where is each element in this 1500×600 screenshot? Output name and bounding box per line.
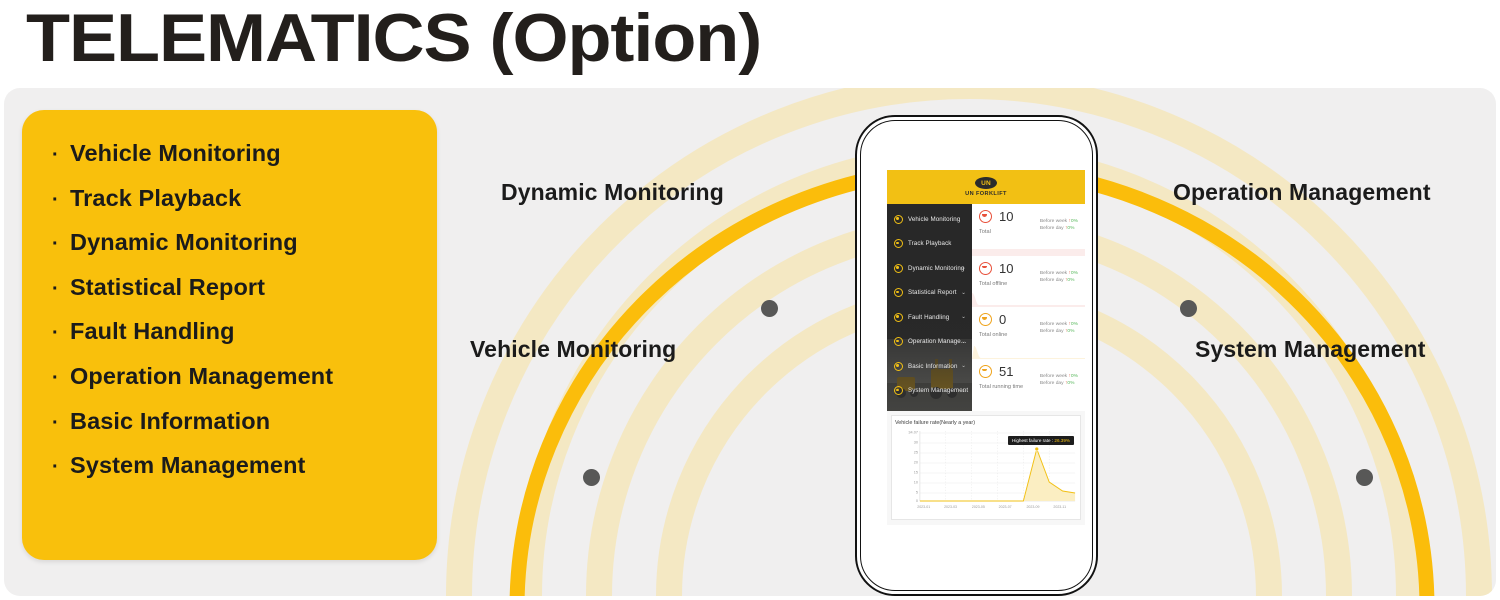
delta-before-day: Before day ↑0% xyxy=(1040,328,1078,335)
phone-bezel: UN UN FORKLIFT xyxy=(860,120,1093,591)
bullet-icon: · xyxy=(52,446,70,489)
feature-item: ·System Management xyxy=(22,444,437,489)
svg-text:2023-09: 2023-09 xyxy=(1026,505,1039,509)
arc-label-vehicle-monitoring: Vehicle Monitoring xyxy=(470,336,676,363)
delta-pct: 0% xyxy=(1067,226,1074,231)
delta-before-week: Before week ↑0% xyxy=(1040,373,1078,380)
svg-text:34.07: 34.07 xyxy=(908,429,918,434)
telematics-slide: TELEMATICS (Option) ·Vehicle Monitoring … xyxy=(0,0,1500,600)
brand-logo-text: UN FORKLIFT xyxy=(965,191,1007,197)
delta-name: Before day xyxy=(1040,329,1064,334)
delta-name: Before day xyxy=(1040,226,1064,231)
bullet-icon: · xyxy=(52,134,70,177)
delta-name: Before week xyxy=(1040,374,1067,379)
bullet-icon: · xyxy=(52,223,70,266)
sidebar-item-track-playback[interactable]: Track Playback xyxy=(887,232,972,257)
arc-node-vehicle-monitoring xyxy=(583,469,600,486)
sidebar-item-label: Vehicle Monitoring xyxy=(908,216,960,223)
svg-text:25: 25 xyxy=(914,449,919,454)
delta-before-week: Before week ↑0% xyxy=(1040,270,1078,277)
bullet-icon: · xyxy=(52,402,70,445)
menu-dot-icon xyxy=(894,386,903,395)
feature-item: ·Operation Management xyxy=(22,355,437,400)
svg-text:2023-07: 2023-07 xyxy=(999,505,1012,509)
delta-before-week: Before week ↑0% xyxy=(1040,321,1078,328)
menu-dot-icon xyxy=(894,264,903,273)
sidebar-item-statistical-report[interactable]: Statistical Report⌄ xyxy=(887,281,972,306)
delta-pct: 0% xyxy=(1067,381,1074,386)
delta-before-day: Before day ↑0% xyxy=(1040,277,1078,284)
feature-item: ·Track Playback xyxy=(22,177,437,222)
delta-name: Before week xyxy=(1040,322,1067,327)
sidebar-menu: Vehicle Monitoring Track Playback Dynami… xyxy=(887,204,972,403)
sidebar-item-label: Basic Information xyxy=(908,363,958,370)
feature-label: Operation Management xyxy=(70,355,333,398)
delta-name: Before week xyxy=(1040,271,1067,276)
svg-text:2023-11: 2023-11 xyxy=(1053,505,1066,509)
arc-label-dynamic-monitoring: Dynamic Monitoring xyxy=(501,179,724,206)
feature-label: Track Playback xyxy=(70,177,241,220)
sidebar-item-label: Fault Handling xyxy=(908,314,949,321)
bullet-icon: · xyxy=(52,357,70,400)
delta-pct: 0% xyxy=(1071,219,1078,224)
sidebar-item-label: Operation Manage... xyxy=(908,338,966,345)
delta-name: Before day xyxy=(1040,278,1064,283)
app-header: UN UN FORKLIFT xyxy=(887,170,1085,204)
stat-deltas: Before week ↑0% Before day ↑0% xyxy=(1040,321,1078,336)
sidebar-item-dynamic-monitoring[interactable]: Dynamic Monitoring⌄ xyxy=(887,256,972,281)
sidebar-item-basic-information[interactable]: Basic Information⌄ xyxy=(887,354,972,379)
stat-value: 0 xyxy=(999,313,1006,326)
menu-dot-icon xyxy=(894,337,903,346)
sidebar-item-label: Dynamic Monitoring xyxy=(908,265,964,272)
svg-text:2023-05: 2023-05 xyxy=(972,505,985,509)
feature-item: ·Basic Information xyxy=(22,400,437,445)
feature-list: ·Vehicle Monitoring ·Track Playback ·Dyn… xyxy=(22,110,437,489)
chevron-down-icon: ⌄ xyxy=(961,265,966,271)
stat-deltas: Before week ↑0% Before day ↑0% xyxy=(1040,373,1078,388)
svg-text:20: 20 xyxy=(914,459,919,464)
feature-list-card: ·Vehicle Monitoring ·Track Playback ·Dyn… xyxy=(22,110,437,560)
feature-label: Statistical Report xyxy=(70,266,265,309)
delta-pct: 0% xyxy=(1071,374,1078,379)
menu-dot-icon xyxy=(894,288,903,297)
sidebar-item-fault-handling[interactable]: Fault Handling⌄ xyxy=(887,305,972,330)
chevron-down-icon: ⌄ xyxy=(961,314,966,320)
stat-card-column: 10 Total Before week ↑0% Before day ↑0% xyxy=(972,204,1085,411)
bullet-icon: · xyxy=(52,312,70,355)
chevron-down-icon: ⌄ xyxy=(961,339,966,345)
stat-card-total-running-time: 51 Total running time Before week ↑0% Be… xyxy=(972,359,1085,411)
sparkline xyxy=(972,343,1085,359)
delta-pct: 0% xyxy=(1067,329,1074,334)
sidebar-item-system-management[interactable]: System Management⌄ xyxy=(887,379,972,404)
app-sidebar: Vehicle Monitoring Track Playback Dynami… xyxy=(887,204,972,411)
delta-before-day: Before day ↑0% xyxy=(1040,225,1078,232)
stat-value: 10 xyxy=(999,210,1013,223)
feature-label: Dynamic Monitoring xyxy=(70,221,298,264)
svg-text:5: 5 xyxy=(916,489,919,494)
delta-name: Before week xyxy=(1040,219,1067,224)
arc-node-operation-management xyxy=(1180,300,1197,317)
svg-text:10: 10 xyxy=(914,479,919,484)
stat-deltas: Before week ↑0% Before day ↑0% xyxy=(1040,218,1078,233)
feature-item: ·Statistical Report xyxy=(22,266,437,311)
menu-dot-icon xyxy=(894,313,903,322)
svg-text:0: 0 xyxy=(916,498,919,503)
stat-value: 10 xyxy=(999,262,1013,275)
sparkline xyxy=(972,291,1085,307)
arc-node-dynamic-monitoring xyxy=(761,300,778,317)
alert-circle-icon xyxy=(979,210,992,223)
svg-text:30: 30 xyxy=(914,439,919,444)
alert-circle-icon xyxy=(979,262,992,275)
sidebar-item-label: Track Playback xyxy=(908,240,951,247)
svg-text:2023-03: 2023-03 xyxy=(944,505,957,509)
chevron-down-icon: ⌄ xyxy=(961,363,966,369)
bullet-icon: · xyxy=(52,268,70,311)
menu-dot-icon xyxy=(894,239,903,248)
feature-label: Fault Handling xyxy=(70,310,235,353)
feature-item: ·Fault Handling xyxy=(22,310,437,355)
feature-item: ·Vehicle Monitoring xyxy=(22,132,437,177)
tooltip-label: Highest failure rate : xyxy=(1012,438,1053,443)
stat-card-total: 10 Total Before week ↑0% Before day ↑0% xyxy=(972,204,1085,256)
content-panel: ·Vehicle Monitoring ·Track Playback ·Dyn… xyxy=(4,88,1496,596)
stat-value: 51 xyxy=(999,365,1013,378)
sparkline xyxy=(972,240,1085,256)
chevron-down-icon: ⌄ xyxy=(961,290,966,296)
brand-logo-icon: UN xyxy=(975,177,997,189)
menu-dot-icon xyxy=(894,362,903,371)
chevron-down-icon: ⌄ xyxy=(961,388,966,394)
sidebar-item-label: Statistical Report xyxy=(908,289,957,296)
feature-label: Vehicle Monitoring xyxy=(70,132,281,175)
feature-label: System Management xyxy=(70,444,305,487)
arc-label-operation-management: Operation Management xyxy=(1173,179,1431,206)
phone-mockup: UN UN FORKLIFT xyxy=(855,115,1098,596)
feature-item: ·Dynamic Monitoring xyxy=(22,221,437,266)
app-screen: UN UN FORKLIFT xyxy=(887,170,1085,525)
delta-pct: 0% xyxy=(1071,271,1078,276)
svg-text:2023-01: 2023-01 xyxy=(917,505,930,509)
chart-tooltip: Highest failure rate : 26.39% xyxy=(1008,436,1074,445)
bullet-icon: · xyxy=(52,179,70,222)
tooltip-value: 26.39% xyxy=(1054,438,1070,443)
stat-card-total-offline: 10 Total offline Before week ↑0% Before … xyxy=(972,256,1085,308)
arc-label-system-management: System Management xyxy=(1195,336,1426,363)
failure-rate-chart-card: Vehicle failure rate(Nearly a year) xyxy=(891,415,1081,520)
app-body: Vehicle Monitoring Track Playback Dynami… xyxy=(887,204,1085,411)
delta-before-day: Before day ↑0% xyxy=(1040,380,1078,387)
sidebar-item-vehicle-monitoring[interactable]: Vehicle Monitoring xyxy=(887,207,972,232)
delta-pct: 0% xyxy=(1067,278,1074,283)
chart-title: Vehicle failure rate(Nearly a year) xyxy=(895,420,1077,426)
menu-dot-icon xyxy=(894,215,903,224)
delta-name: Before day xyxy=(1040,381,1064,386)
svg-text:15: 15 xyxy=(914,469,919,474)
delta-pct: 0% xyxy=(1071,322,1078,327)
sidebar-item-label: System Management xyxy=(908,387,968,394)
alert-circle-icon xyxy=(979,313,992,326)
stat-deltas: Before week ↑0% Before day ↑0% xyxy=(1040,270,1078,285)
stat-card-total-online: 0 Total online Before week ↑0% Before da… xyxy=(972,307,1085,359)
sidebar-item-operation-management[interactable]: Operation Manage...⌄ xyxy=(887,330,972,355)
feature-label: Basic Information xyxy=(70,400,270,443)
delta-before-week: Before week ↑0% xyxy=(1040,218,1078,225)
arc-node-system-management xyxy=(1356,469,1373,486)
chart-plot: 34.07 30 25 20 15 10 5 0 xyxy=(895,427,1077,513)
page-title: TELEMATICS (Option) xyxy=(26,0,761,80)
clock-icon xyxy=(979,365,992,378)
